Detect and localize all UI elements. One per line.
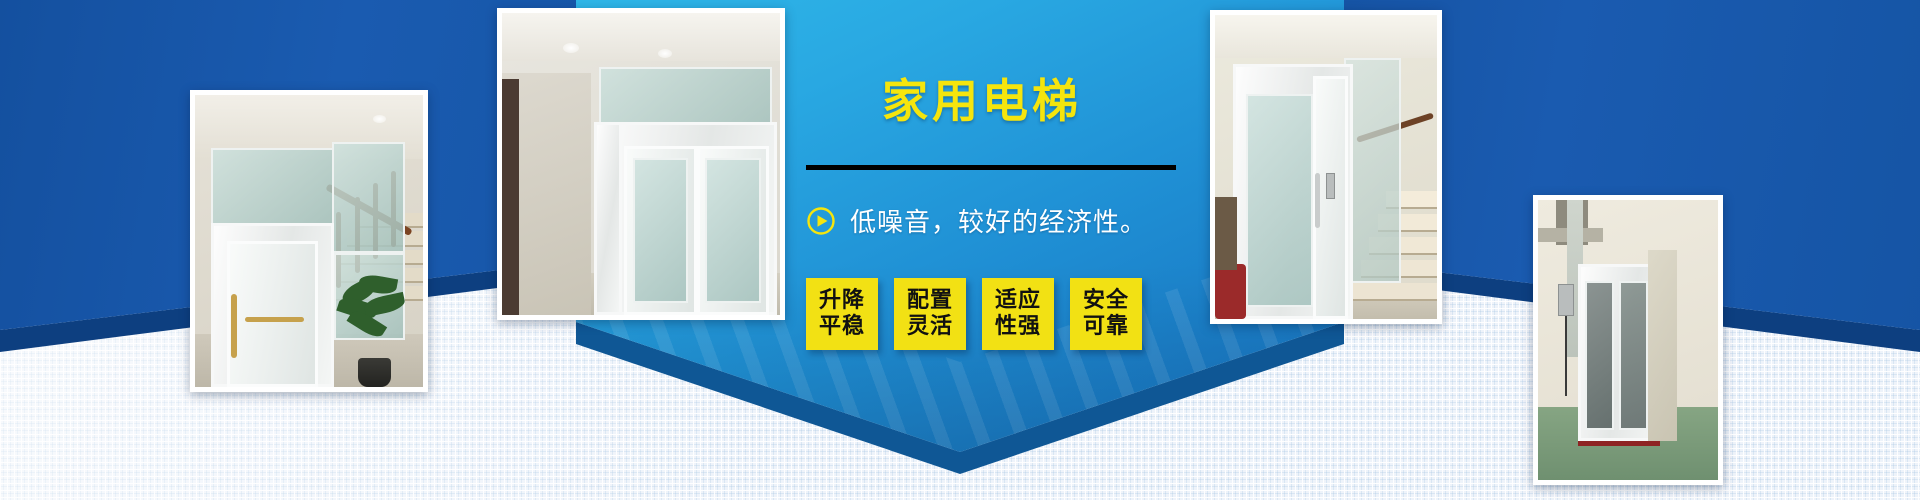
subtitle-row: 低噪音，较好的经济性。	[806, 202, 1147, 239]
feature-badge-3[interactable]: 适应 性强	[982, 278, 1054, 350]
play-circle-icon	[806, 206, 836, 236]
feature-badge-1-line1: 升降	[819, 288, 865, 314]
feature-badge-list: 升降 平稳 配置 灵活 适应 性强 安全 可靠	[806, 278, 1142, 350]
feature-badge-3-line1: 适应	[995, 288, 1041, 314]
feature-badge-2[interactable]: 配置 灵活	[894, 278, 966, 350]
page-title: 家用电梯	[812, 78, 1152, 124]
title-divider	[806, 165, 1176, 170]
feature-badge-3-line2: 性强	[995, 314, 1041, 340]
feature-badge-2-line2: 灵活	[907, 314, 953, 340]
home-elevator-banner: 家用电梯 低噪音，较好的经济性。 升降 平稳 配置 灵活 适应 性强	[0, 0, 1920, 500]
feature-badge-4-line1: 安全	[1083, 288, 1129, 314]
feature-badge-1[interactable]: 升降 平稳	[806, 278, 878, 350]
feature-badge-2-line1: 配置	[907, 288, 953, 314]
banner-copy: 家用电梯 低噪音，较好的经济性。 升降 平稳 配置 灵活 适应 性强	[0, 0, 1920, 500]
feature-badge-4[interactable]: 安全 可靠	[1070, 278, 1142, 350]
feature-badge-1-line2: 平稳	[819, 314, 865, 340]
subtitle-text: 低噪音，较好的经济性。	[850, 202, 1147, 239]
feature-badge-4-line2: 可靠	[1083, 314, 1129, 340]
